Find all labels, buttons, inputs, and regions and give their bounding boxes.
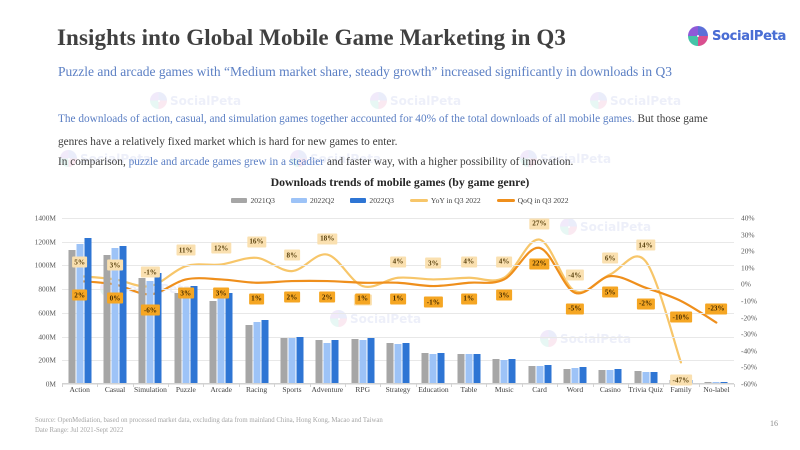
data-label-yoy: 4%: [461, 256, 477, 267]
data-label-qoq: 1%: [390, 293, 406, 304]
y-axis-tick-label: 600M: [38, 308, 56, 317]
x-axis-tick: [239, 384, 240, 387]
legend-swatch: [410, 199, 428, 202]
data-label-qoq: -2%: [636, 298, 654, 309]
chart-category-column: No-label: [699, 218, 734, 384]
y2-axis-tick-label: 30%: [741, 230, 755, 239]
paragraph-3: In comparison, puzzle and arcade games g…: [58, 156, 573, 168]
x-axis-tick: [133, 384, 134, 387]
data-label-yoy: 12%: [211, 243, 230, 254]
data-label-yoy: 3%: [107, 260, 123, 271]
bar[interactable]: [403, 343, 410, 384]
bar[interactable]: [253, 322, 260, 384]
bar[interactable]: [332, 340, 339, 384]
chart-legend: 2021Q32022Q22022Q3YoY in Q3 2022QoQ in Q…: [0, 196, 800, 205]
y-axis-tick-label: 800M: [38, 285, 56, 294]
y2-axis-tick-label: -10%: [741, 297, 757, 306]
legend-item-yoy-in-q3-2022[interactable]: YoY in Q3 2022: [410, 196, 481, 205]
data-label-yoy: -4%: [566, 270, 584, 281]
data-label-yoy: 3%: [425, 258, 441, 269]
bar[interactable]: [218, 296, 225, 384]
chart-category-column: Action: [62, 218, 97, 384]
watermark: SocialPeta: [150, 92, 241, 109]
y-axis-tick-label: 1200M: [35, 237, 56, 246]
x-axis-tick: [345, 384, 346, 387]
data-label-yoy: 14%: [636, 240, 655, 251]
x-axis-tick: [734, 384, 735, 387]
bar[interactable]: [579, 367, 586, 384]
chart-category-column: Simulation: [133, 218, 168, 384]
bar[interactable]: [296, 337, 303, 384]
y2-axis-tick-label: -60%: [741, 380, 757, 389]
bar[interactable]: [607, 370, 614, 384]
bar[interactable]: [226, 293, 233, 384]
source-line: Source: OpenMediation, based on processe…: [35, 416, 383, 426]
bar[interactable]: [457, 354, 464, 384]
data-label-yoy: 16%: [247, 236, 266, 247]
data-label-qoq: 3%: [213, 288, 229, 299]
paragraph-2: genres have a relatively fixed market wh…: [58, 136, 397, 148]
bar[interactable]: [359, 340, 366, 384]
data-label-qoq: 0%: [107, 293, 123, 304]
x-axis-tick: [628, 384, 629, 387]
legend-item-2022q2[interactable]: 2022Q2: [291, 196, 334, 205]
x-axis-tick: [451, 384, 452, 387]
bar[interactable]: [147, 281, 154, 384]
bar-group: [528, 218, 551, 384]
data-label-qoq: 3%: [496, 290, 512, 301]
slide-canvas: SocialPeta SocialPeta SocialPeta SocialP…: [0, 0, 800, 450]
bar[interactable]: [571, 368, 578, 384]
footer-source: Source: OpenMediation, based on processe…: [35, 416, 383, 436]
brand-logo: SocialPeta: [688, 26, 786, 46]
bar[interactable]: [563, 369, 570, 384]
bar[interactable]: [528, 366, 535, 384]
data-label-qoq: -5%: [566, 303, 584, 314]
bar[interactable]: [174, 293, 181, 384]
bar[interactable]: [395, 344, 402, 384]
x-axis-tick-label: No-label: [690, 386, 742, 395]
date-range-line: Date Range: Jul 2021-Sept 2022: [35, 426, 383, 436]
y2-axis-tick-label: 0%: [741, 280, 751, 289]
y2-axis-tick-label: 40%: [741, 214, 755, 223]
data-label-yoy: 27%: [530, 218, 549, 229]
y2-axis-tick-label: -40%: [741, 346, 757, 355]
bar[interactable]: [316, 340, 323, 384]
bar[interactable]: [501, 360, 508, 384]
chart-category-column: Family: [663, 218, 698, 384]
data-label-qoq: 5%: [602, 287, 618, 298]
bar[interactable]: [155, 273, 162, 384]
data-label-qoq: 2%: [284, 292, 300, 303]
chart-title: Downloads trends of mobile games (by gam…: [0, 175, 800, 190]
bar[interactable]: [104, 255, 111, 384]
chart-category-column: Word: [557, 218, 592, 384]
bar-group: [139, 218, 162, 384]
legend-item-2022q3[interactable]: 2022Q3: [350, 196, 393, 205]
data-label-yoy: 11%: [176, 245, 195, 256]
page-title: Insights into Global Mobile Game Marketi…: [57, 25, 566, 51]
bar[interactable]: [351, 339, 358, 384]
bar[interactable]: [182, 289, 189, 384]
x-axis-tick: [274, 384, 275, 387]
chart-category-column: Music: [487, 218, 522, 384]
data-label-yoy: 6%: [602, 253, 618, 264]
chart-category-column: Puzzle: [168, 218, 203, 384]
y2-axis-tick-label: 10%: [741, 263, 755, 272]
x-axis-tick: [699, 384, 700, 387]
data-label-qoq: 2%: [319, 292, 335, 303]
bar[interactable]: [493, 359, 500, 384]
y2-axis-tick-label: 20%: [741, 247, 755, 256]
legend-label: 2022Q2: [310, 196, 334, 205]
y2-axis-tick-label: -50%: [741, 363, 757, 372]
bar[interactable]: [261, 320, 268, 384]
paragraph-1-rest: But those game: [635, 113, 708, 125]
data-label-yoy: 4%: [390, 256, 406, 267]
legend-item-2021q3[interactable]: 2021Q3: [231, 196, 274, 205]
paragraph-1-highlight: The downloads of action, casual, and sim…: [58, 113, 635, 125]
chart-plot-area: 0M200M400M600M800M1000M1200M1400M-60%-50…: [62, 218, 734, 384]
paragraph-3-highlight: puzzle and arcade games grew in a steadi…: [129, 156, 324, 168]
bar[interactable]: [544, 365, 551, 384]
data-label-qoq: 1%: [355, 293, 371, 304]
x-axis-tick: [168, 384, 169, 387]
bar[interactable]: [387, 343, 394, 385]
bar[interactable]: [473, 354, 480, 384]
x-axis-tick: [522, 384, 523, 387]
watermark: SocialPeta: [370, 92, 461, 109]
bar[interactable]: [210, 301, 217, 384]
x-axis-tick: [557, 384, 558, 387]
bar-group: [493, 218, 516, 384]
data-label-qoq: -23%: [705, 303, 727, 314]
x-axis-tick: [380, 384, 381, 387]
bar[interactable]: [422, 353, 429, 384]
legend-swatch: [231, 198, 247, 203]
data-label-yoy: 5%: [72, 257, 88, 268]
x-axis-tick: [593, 384, 594, 387]
bar[interactable]: [509, 359, 516, 384]
pie-chart-icon: [688, 26, 708, 46]
x-axis-tick: [97, 384, 98, 387]
watermark: SocialPeta: [590, 92, 681, 109]
data-label-qoq: -10%: [670, 312, 692, 323]
x-axis-tick: [62, 384, 63, 387]
data-label-yoy: 8%: [284, 250, 300, 261]
bar-group: [68, 218, 91, 384]
data-label-yoy: 18%: [318, 233, 337, 244]
legend-item-qoq-in-q3-2022[interactable]: QoQ in Q3 2022: [497, 196, 569, 205]
chart-category-column: Casino: [593, 218, 628, 384]
y-axis-tick-label: 1400M: [35, 214, 56, 223]
data-label-yoy: -1%: [141, 267, 159, 278]
bar-group: [563, 218, 586, 384]
paragraph-1: The downloads of action, casual, and sim…: [58, 113, 708, 125]
legend-swatch: [350, 198, 366, 203]
legend-label: 2021Q3: [250, 196, 274, 205]
bar[interactable]: [324, 343, 331, 385]
brand-name: SocialPeta: [712, 29, 786, 44]
data-label-qoq: 3%: [178, 288, 194, 299]
bar[interactable]: [190, 286, 197, 384]
paragraph-3-lead: In comparison,: [58, 156, 129, 168]
y-axis-tick-label: 1000M: [35, 261, 56, 270]
chart-category-column: Card: [522, 218, 557, 384]
legend-label: 2022Q3: [369, 196, 393, 205]
bar-group: [174, 218, 197, 384]
x-axis-tick: [416, 384, 417, 387]
data-label-yoy: 4%: [496, 256, 512, 267]
data-label-qoq: -1%: [424, 297, 442, 308]
bar[interactable]: [139, 278, 146, 384]
data-label-qoq: 2%: [72, 290, 88, 301]
page-subtitle: Puzzle and arcade games with “Medium mar…: [58, 64, 672, 80]
data-label-qoq: 1%: [249, 293, 265, 304]
bar[interactable]: [280, 338, 287, 384]
data-label-qoq: 1%: [461, 293, 477, 304]
legend-label: YoY in Q3 2022: [431, 196, 481, 205]
x-axis-tick: [203, 384, 204, 387]
bar[interactable]: [536, 366, 543, 384]
data-label-qoq: -6%: [141, 305, 159, 316]
bar-group: [670, 218, 693, 384]
legend-label: QoQ in Q3 2022: [518, 196, 569, 205]
bar[interactable]: [599, 370, 606, 384]
legend-swatch: [497, 199, 515, 202]
bar[interactable]: [438, 353, 445, 384]
bar[interactable]: [245, 325, 252, 384]
x-axis-tick: [486, 384, 487, 387]
x-axis-tick: [663, 384, 664, 387]
data-label-qoq: 22%: [530, 258, 549, 269]
y2-axis-tick-label: -20%: [741, 313, 757, 322]
data-label-yoy: -47%: [670, 375, 692, 386]
paragraph-3-tail: and faster way, with a higher possibilit…: [324, 156, 573, 168]
bar[interactable]: [68, 250, 75, 384]
y-axis-tick-label: 200M: [38, 356, 56, 365]
bar[interactable]: [288, 338, 295, 384]
bar[interactable]: [367, 338, 374, 384]
y2-axis-tick-label: -30%: [741, 330, 757, 339]
x-axis-line: [62, 383, 734, 384]
x-axis-tick: [310, 384, 311, 387]
bar-group: [599, 218, 622, 384]
y-axis-tick-label: 400M: [38, 332, 56, 341]
bar[interactable]: [615, 369, 622, 384]
bar-group: [705, 218, 728, 384]
bar[interactable]: [430, 354, 437, 384]
page-number: 16: [770, 419, 778, 428]
legend-swatch: [291, 198, 307, 203]
bar[interactable]: [465, 354, 472, 384]
